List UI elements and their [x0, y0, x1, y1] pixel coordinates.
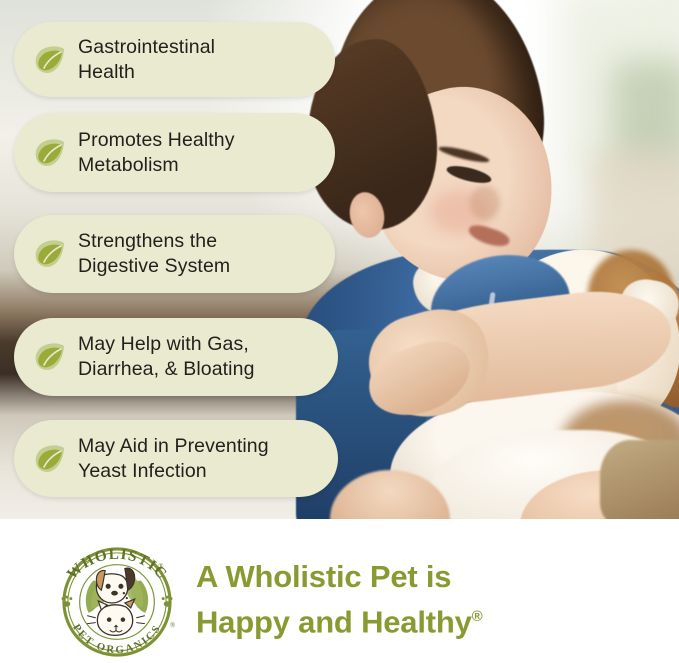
benefit-badge-text: Strengthens the Digestive System: [78, 229, 230, 279]
leaf-icon: [30, 439, 70, 479]
benefit-line-2: Health: [78, 60, 215, 85]
leaf-icon: [30, 337, 70, 377]
hero-photo: Gastrointestinal Health Promotes Healthy…: [0, 0, 679, 519]
boy-nose: [470, 186, 500, 220]
leaf-icon: [30, 234, 70, 274]
tagline-line-2-wrap: Happy and Healthy®: [196, 597, 676, 642]
benefit-line-2: Yeast Infection: [78, 459, 269, 484]
benefit-line-2: Digestive System: [78, 254, 230, 279]
benefit-badge[interactable]: Gastrointestinal Health: [14, 22, 335, 97]
benefit-line-2: Diarrhea, & Bloating: [78, 357, 255, 382]
tagline-line-1: A Wholistic Pet is: [196, 557, 676, 597]
benefit-line-1: May Aid in Preventing: [78, 435, 269, 457]
benefit-badge[interactable]: Promotes Healthy Metabolism: [14, 113, 335, 192]
benefit-line-2: Metabolism: [78, 153, 235, 178]
logo-registered-mark: ®: [158, 564, 163, 571]
brand-tagline: A Wholistic Pet is Happy and Healthy®: [196, 557, 676, 642]
product-benefits-poster: Gastrointestinal Health Promotes Healthy…: [0, 0, 679, 663]
benefit-badge-list: Gastrointestinal Health Promotes Healthy…: [0, 0, 360, 519]
leaf-icon: [30, 133, 70, 173]
logo-registered-mark-bottom: ®: [170, 623, 175, 630]
benefit-line-1: Promotes Healthy: [78, 129, 235, 151]
tagline-registered-mark: ®: [472, 608, 483, 625]
benefit-badge[interactable]: May Help with Gas, Diarrhea, & Bloating: [14, 318, 338, 396]
boy-shorts: [600, 440, 679, 519]
benefit-line-1: Strengthens the: [78, 230, 217, 252]
tagline-line-2: Happy and Healthy: [196, 604, 472, 639]
benefit-line-1: May Help with Gas,: [78, 333, 249, 355]
benefit-badge[interactable]: May Aid in Preventing Yeast Infection: [14, 420, 338, 497]
benefit-badge[interactable]: Strengthens the Digestive System: [14, 215, 335, 293]
leaf-icon: [30, 40, 70, 80]
benefit-badge-text: May Aid in Preventing Yeast Infection: [78, 434, 269, 484]
brand-logo[interactable]: WHOLISTIC PET ORGANICS ® ®: [48, 547, 186, 657]
benefit-line-1: Gastrointestinal: [78, 36, 215, 58]
footer-bar: WHOLISTIC PET ORGANICS ® ® A Whol: [0, 519, 679, 663]
benefit-badge-text: Gastrointestinal Health: [78, 35, 215, 85]
benefit-badge-text: Promotes Healthy Metabolism: [78, 128, 235, 178]
benefit-badge-text: May Help with Gas, Diarrhea, & Bloating: [78, 332, 255, 382]
